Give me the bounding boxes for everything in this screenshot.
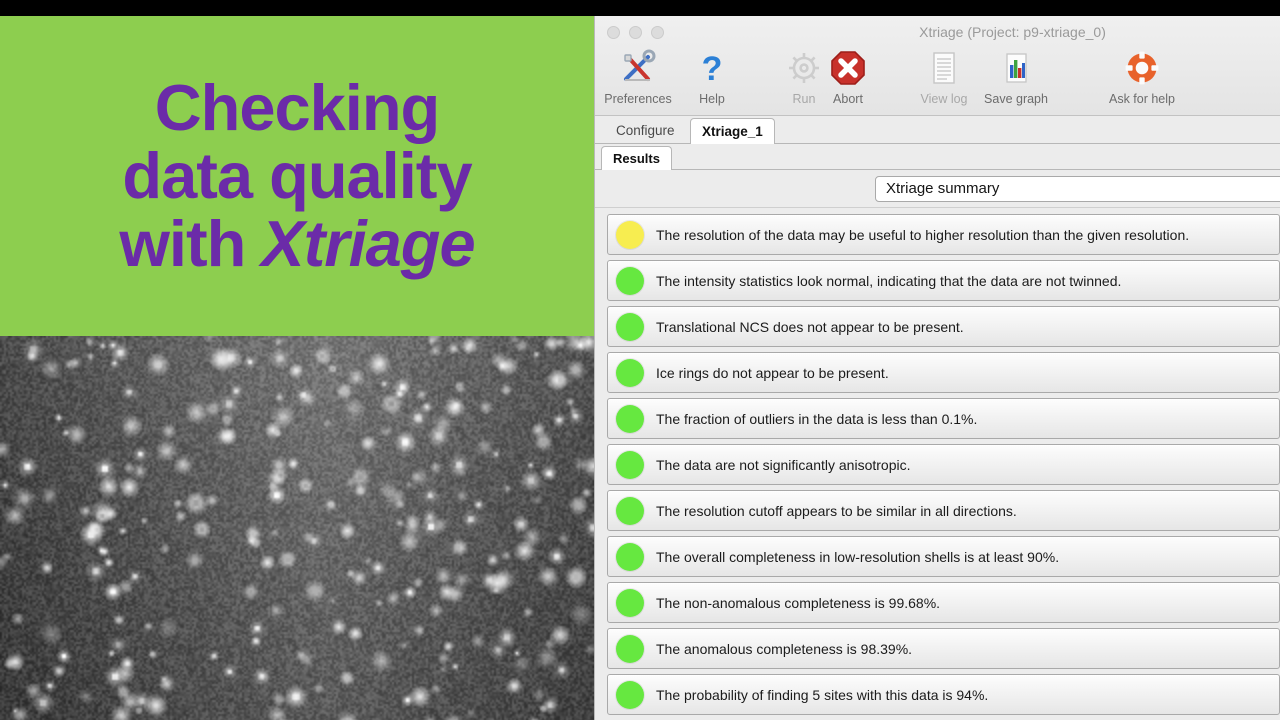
toolbar-label-ask-for-help: Ask for help [1109,92,1175,106]
screenshot-stage: Checking data quality with Xtriage Xtria… [0,0,1280,720]
diffraction-canvas [0,336,594,720]
summary-select[interactable]: Xtriage summary [875,176,1280,202]
selector-row: Xtriage summary [595,170,1280,208]
result-message: The data are not significantly anisotrop… [656,457,910,473]
question-icon: ? [693,47,731,89]
result-message: Ice rings do not appear to be present. [656,365,889,381]
result-row[interactable]: The intensity statistics look normal, in… [607,260,1280,301]
window-title: Xtriage (Project: p9-xtriage_0) [595,24,1280,40]
toolbar-button-view-log[interactable]: View log [905,44,983,116]
result-message: The non-anomalous completeness is 99.68%… [656,595,940,611]
results-list: The resolution of the data may be useful… [595,208,1280,715]
status-indicator-ok [616,635,644,663]
status-indicator-ok [616,543,644,571]
slide-title-line-3-italic: Xtriage [261,210,474,278]
slide-title-card: Checking data quality with Xtriage [0,16,594,336]
subtab-results[interactable]: Results [601,146,672,170]
result-message: The probability of finding 5 sites with … [656,687,988,703]
toolbar-button-help[interactable]: ? Help [673,44,751,116]
slide-title-line-2: data quality [122,142,471,210]
status-indicator-ok [616,405,644,433]
result-message: The intensity statistics look normal, in… [656,273,1121,289]
toolbar-label-save-graph: Save graph [984,92,1048,106]
bar-chart-icon [997,47,1035,89]
result-row[interactable]: The fraction of outliers in the data is … [607,398,1280,439]
sub-tab-bar: Results [595,144,1280,170]
result-message: The overall completeness in low-resoluti… [656,549,1059,565]
toolbar-label-view-log: View log [920,92,967,106]
slide-title-line-3: with Xtriage [119,210,474,278]
slide-panel: Checking data quality with Xtriage [0,16,594,720]
document-icon [925,47,963,89]
result-message: Translational NCS does not appear to be … [656,319,964,335]
status-indicator-warning [616,221,644,249]
toolbar-label-preferences: Preferences [604,92,671,106]
result-row[interactable]: The non-anomalous completeness is 99.68%… [607,582,1280,623]
toolbar-button-ask-for-help[interactable]: Ask for help [1103,44,1181,116]
result-row[interactable]: The resolution of the data may be useful… [607,214,1280,255]
status-indicator-ok [616,497,644,525]
status-indicator-ok [616,267,644,295]
window-titlebar: Xtriage (Project: p9-xtriage_0) Preferen [595,16,1280,116]
result-message: The fraction of outliers in the data is … [656,411,977,427]
result-row[interactable]: The resolution cutoff appears to be simi… [607,490,1280,531]
result-row[interactable]: The overall completeness in low-resoluti… [607,536,1280,577]
status-indicator-ok [616,313,644,341]
toolbar-button-abort[interactable]: Abort [809,44,887,116]
lifering-icon [1123,47,1161,89]
status-indicator-ok [616,589,644,617]
tab-configure[interactable]: Configure [605,118,686,144]
status-indicator-ok [616,359,644,387]
toolbar-button-save-graph[interactable]: Save graph [977,44,1055,116]
result-row[interactable]: The data are not significantly anisotrop… [607,444,1280,485]
result-message: The resolution cutoff appears to be simi… [656,503,1017,519]
tab-xtriage-1[interactable]: Xtriage_1 [690,118,775,144]
diffraction-pattern-image [0,336,594,720]
status-indicator-ok [616,681,644,709]
toolbar-label-abort: Abort [833,92,863,106]
toolbar: Preferences ? Help [595,44,1280,116]
xtriage-application-window: Xtriage (Project: p9-xtriage_0) Preferen [594,16,1280,720]
main-tab-bar: Configure Xtriage_1 [595,116,1280,144]
status-indicator-ok [616,451,644,479]
result-row[interactable]: The anomalous completeness is 98.39%. [607,628,1280,669]
svg-text:?: ? [702,50,723,87]
result-row[interactable]: Ice rings do not appear to be present. [607,352,1280,393]
result-row[interactable]: Translational NCS does not appear to be … [607,306,1280,347]
toolbar-button-preferences[interactable]: Preferences [599,44,677,116]
stop-x-icon [829,47,867,89]
toolbar-label-help: Help [699,92,725,106]
result-row[interactable]: The probability of finding 5 sites with … [607,674,1280,715]
result-message: The resolution of the data may be useful… [656,227,1189,243]
result-message: The anomalous completeness is 98.39%. [656,641,912,657]
slide-title-line-1: Checking [155,74,440,142]
tools-icon [619,47,657,89]
slide-title-line-3-prefix: with [119,210,245,278]
